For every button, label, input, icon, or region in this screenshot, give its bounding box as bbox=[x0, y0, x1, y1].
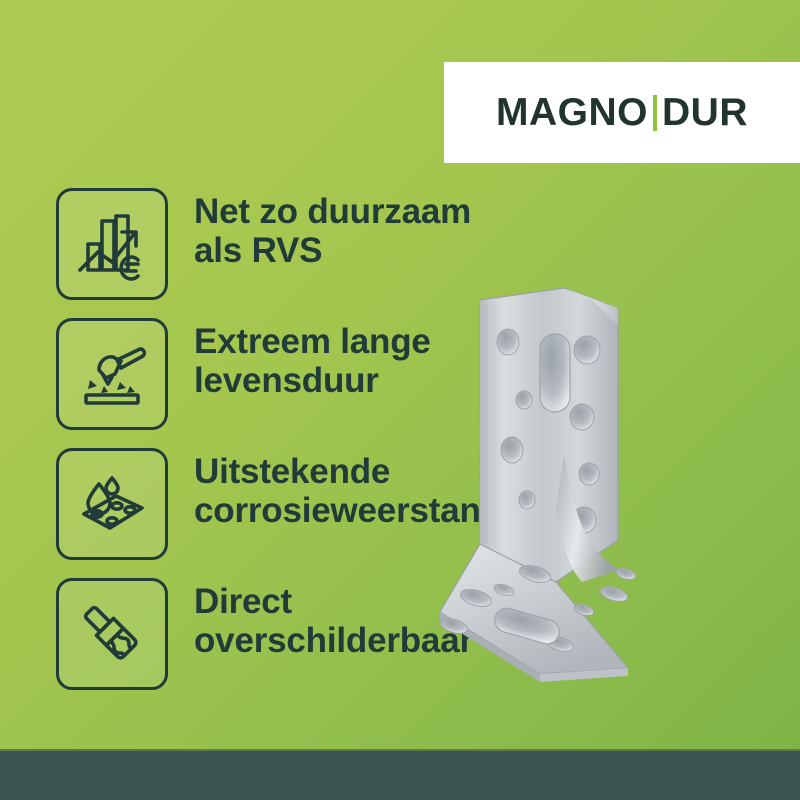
feature-line-1: Uitstekende bbox=[194, 452, 390, 491]
logo-text-dur: DUR bbox=[662, 93, 748, 132]
logo-wordmark: MAGNO DUR bbox=[496, 93, 748, 132]
brand-logo-panel: MAGNO DUR bbox=[444, 62, 800, 163]
paintbrush-icon bbox=[56, 578, 168, 690]
bracket-vertical-plate bbox=[480, 288, 618, 582]
feature-line-1: Net zo duurzaam bbox=[194, 192, 471, 231]
hammer-impact-icon bbox=[56, 318, 168, 430]
feature-line-1: Direct bbox=[194, 582, 292, 621]
feature-line-2: als RVS bbox=[194, 231, 576, 270]
feature-label-durability: Net zo duurzaam als RVS bbox=[194, 188, 576, 270]
product-image-angle-bracket bbox=[432, 282, 792, 682]
product-promo-poster: MAGNO DUR bbox=[0, 0, 800, 800]
bar-chart-euro-icon bbox=[56, 188, 168, 300]
water-droplet-surface-icon bbox=[56, 448, 168, 560]
footer-bar bbox=[0, 749, 800, 800]
feature-line-1: Extreem lange bbox=[194, 322, 431, 361]
logo-divider-bar bbox=[653, 95, 657, 131]
logo-text-magno: MAGNO bbox=[496, 93, 648, 132]
